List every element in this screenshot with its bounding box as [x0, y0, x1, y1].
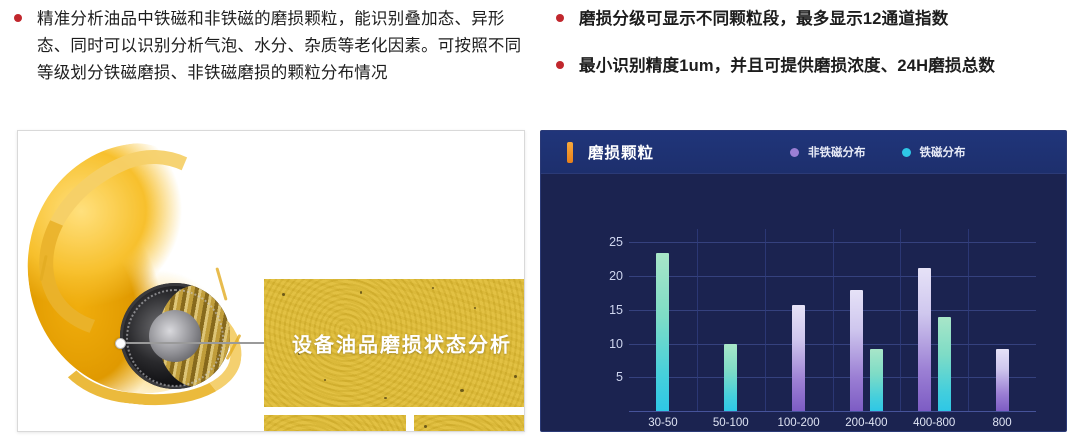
- x-axis-tick: 400-800: [900, 417, 968, 429]
- x-axis-tick: 200-400: [832, 417, 900, 429]
- bullet-item: 最小识别精度1um，并且可提供磨损浓度、24H磨损总数: [556, 53, 1061, 80]
- bar-nonferromagnetic[interactable]: [996, 349, 1009, 411]
- bullet-item: 精准分析油品中铁磁和非铁磁的磨损颗粒，能识别叠加态、异形态、同时可以识别分析气泡…: [14, 6, 524, 87]
- wear-particle-shapes: [414, 415, 525, 432]
- bar-nonferromagnetic[interactable]: [792, 305, 805, 411]
- y-axis-tick: 20: [609, 269, 623, 283]
- bar-group: [629, 229, 697, 411]
- bullet-dot-icon: [556, 61, 564, 69]
- chart-legend: 非铁磁分布 铁磁分布: [790, 144, 966, 160]
- microscope-tile-title: 设备油品磨损状态分析: [264, 279, 525, 407]
- bullet-text: 精准分析油品中铁磁和非铁磁的磨损颗粒，能识别叠加态、异形态、同时可以识别分析气泡…: [37, 6, 524, 87]
- particle-network-graph: [264, 415, 406, 432]
- y-axis-tick: 15: [609, 303, 623, 317]
- callout-dot-start: [115, 338, 126, 349]
- x-axis-labels: 30-5050-100100-200200-400400-800800: [629, 417, 1036, 429]
- legend-item-nonferromagnetic[interactable]: 非铁磁分布: [790, 144, 866, 160]
- bar-group: [968, 229, 1036, 411]
- callout-connector-line: [118, 342, 276, 344]
- x-axis-tick: 100-200: [765, 417, 833, 429]
- microscope-tile-particles: 50um 35um 30um 铁磁颗粒 气泡: [414, 415, 525, 432]
- vertical-separator: [900, 229, 901, 411]
- bar-group: [765, 229, 833, 411]
- oil-splash-illustration: [24, 137, 252, 425]
- y-axis-tick: 25: [609, 235, 623, 249]
- bullet-list-right: 磨损分级可显示不同颗粒段，最多显示12通道指数 最小识别精度1um，并且可提供磨…: [556, 6, 1061, 100]
- microscope-tile-network: [264, 415, 406, 432]
- x-axis-tick: 30-50: [629, 417, 697, 429]
- x-axis-line: [629, 411, 1036, 412]
- legend-swatch-icon: [790, 148, 799, 157]
- bullet-list-left: 精准分析油品中铁磁和非铁磁的磨损颗粒，能识别叠加态、异形态、同时可以识别分析气泡…: [14, 6, 524, 101]
- chart-title: 磨损颗粒: [588, 141, 654, 163]
- slide-root: 精准分析油品中铁磁和非铁磁的磨损颗粒，能识别叠加态、异形态、同时可以识别分析气泡…: [0, 0, 1075, 442]
- vertical-separator: [968, 229, 969, 411]
- x-axis-tick: 50-100: [697, 417, 765, 429]
- y-axis-tick: 10: [609, 337, 623, 351]
- bar-nonferromagnetic[interactable]: [850, 290, 863, 411]
- legend-label: 铁磁分布: [920, 144, 966, 160]
- chart-header: 磨损颗粒 非铁磁分布 铁磁分布: [541, 131, 1066, 174]
- roller-bearing-image: [120, 283, 230, 389]
- bar-group: [697, 229, 765, 411]
- chart-plot-area: 510152025 30-5050-100100-200200-400400-8…: [541, 173, 1066, 431]
- bar-group: [900, 229, 968, 411]
- legend-label: 非铁磁分布: [808, 144, 866, 160]
- tile-title-text: 设备油品磨损状态分析: [278, 329, 525, 358]
- legend-swatch-icon: [902, 148, 911, 157]
- bar-ferromagnetic[interactable]: [656, 253, 669, 411]
- bullet-text: 最小识别精度1um，并且可提供磨损浓度、24H磨损总数: [579, 53, 995, 80]
- vertical-separator: [833, 229, 834, 411]
- oil-analysis-photo-panel: 设备油品磨损状态分析: [17, 130, 525, 432]
- bullet-dot-icon: [556, 14, 564, 22]
- y-axis-tick: 5: [616, 370, 623, 384]
- bearing-inner-ring: [149, 310, 201, 362]
- bullet-dot-icon: [14, 14, 22, 22]
- vertical-separator: [697, 229, 698, 411]
- wear-particle-chart-panel: 磨损颗粒 非铁磁分布 铁磁分布 510152025 30-5050-100100…: [540, 130, 1067, 432]
- bar-ferromagnetic[interactable]: [724, 344, 737, 411]
- x-axis-tick: 800: [968, 417, 1036, 429]
- legend-item-ferromagnetic[interactable]: 铁磁分布: [902, 144, 966, 160]
- bar-ferromagnetic[interactable]: [938, 317, 951, 411]
- bar-ferromagnetic[interactable]: [870, 349, 883, 411]
- y-axis-labels: 510152025: [593, 229, 623, 411]
- bar-group: [832, 229, 900, 411]
- bullet-item: 磨损分级可显示不同颗粒段，最多显示12通道指数: [556, 6, 1061, 33]
- accent-bar-icon: [567, 142, 573, 163]
- vertical-separator: [765, 229, 766, 411]
- bar-nonferromagnetic[interactable]: [918, 268, 931, 411]
- bullet-text: 磨损分级可显示不同颗粒段，最多显示12通道指数: [579, 6, 948, 33]
